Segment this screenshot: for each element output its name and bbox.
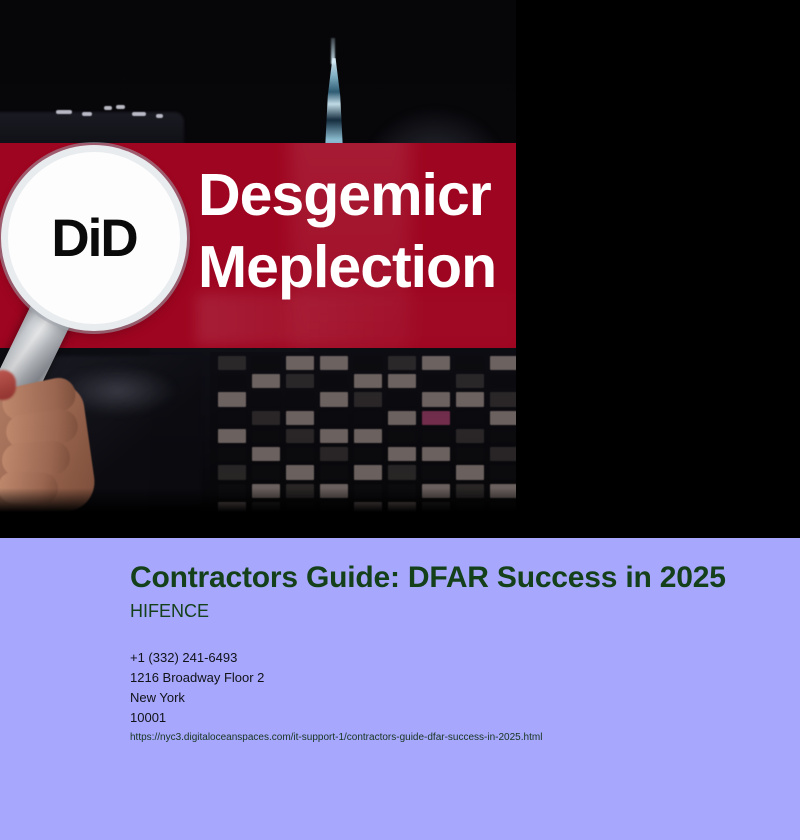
banner-headline-line1: Desgemicr bbox=[198, 159, 516, 231]
banner-headline-line2: Meplection bbox=[198, 231, 516, 303]
contact-zip: 10001 bbox=[130, 708, 264, 728]
photo-bottom-fade bbox=[0, 488, 516, 512]
did-logo-text: DiD bbox=[8, 152, 180, 324]
source-url-link[interactable]: https://nyc3.digitaloceanspaces.com/it-s… bbox=[130, 731, 542, 745]
article-info-panel: Contractors Guide: DFAR Success in 2025 … bbox=[0, 538, 800, 840]
hero-photo: Desgemicr Meplection DiD bbox=[0, 0, 516, 512]
roof-lights bbox=[52, 104, 172, 120]
hero-banner-region: Desgemicr Meplection DiD bbox=[0, 0, 800, 538]
contact-details-list: +1 (332) 241-6493 1216 Broadway Floor 2 … bbox=[130, 648, 264, 728]
page-title: Contractors Guide: DFAR Success in 2025 bbox=[130, 560, 726, 596]
contact-street: 1216 Broadway Floor 2 bbox=[130, 668, 264, 688]
organization-name: HIFENCE bbox=[130, 600, 209, 622]
contact-city: New York bbox=[130, 688, 264, 708]
contact-phone: +1 (332) 241-6493 bbox=[130, 648, 264, 668]
